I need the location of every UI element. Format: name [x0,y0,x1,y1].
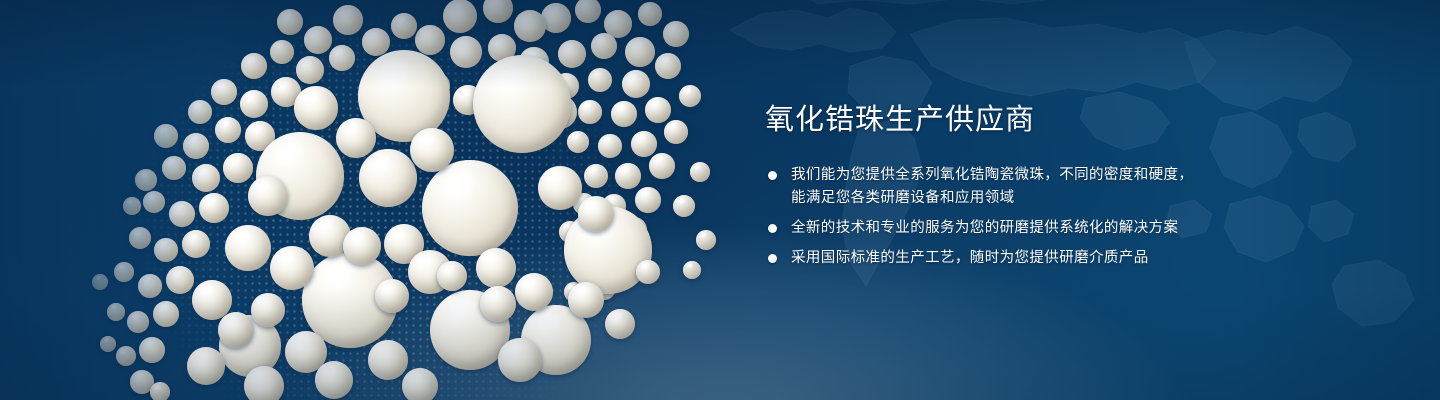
list-item-line: 能满足您各类研磨设备和应用领域 [791,187,1283,210]
list-item-line: 采用国际标准的生产工艺，随时为您提供研磨介质产品 [791,247,1283,270]
list-item: 我们能为您提供全系列氧化锆陶瓷微珠，不同的密度和硬度， 能满足您各类研磨设备和应… [763,164,1283,210]
list-item-line: 我们能为您提供全系列氧化锆陶瓷微珠，不同的密度和硬度， [791,164,1283,187]
list-item: 全新的技术和专业的服务为您的研磨提供系统化的解决方案 [763,217,1283,240]
hero-banner: 氧化锆珠生产供应商 我们能为您提供全系列氧化锆陶瓷微珠，不同的密度和硬度， 能满… [0,0,1440,400]
list-item: 采用国际标准的生产工艺，随时为您提供研磨介质产品 [763,247,1283,270]
bullet-dot-icon [768,254,777,263]
list-item-line: 全新的技术和专业的服务为您的研磨提供系统化的解决方案 [791,217,1283,240]
feature-list: 我们能为您提供全系列氧化锆陶瓷微珠，不同的密度和硬度， 能满足您各类研磨设备和应… [763,164,1283,270]
banner-content: 氧化锆珠生产供应商 我们能为您提供全系列氧化锆陶瓷微珠，不同的密度和硬度， 能满… [763,104,1283,270]
bullet-dot-icon [768,224,777,233]
page-title: 氧化锆珠生产供应商 [765,104,1283,137]
bullet-dot-icon [768,171,777,180]
